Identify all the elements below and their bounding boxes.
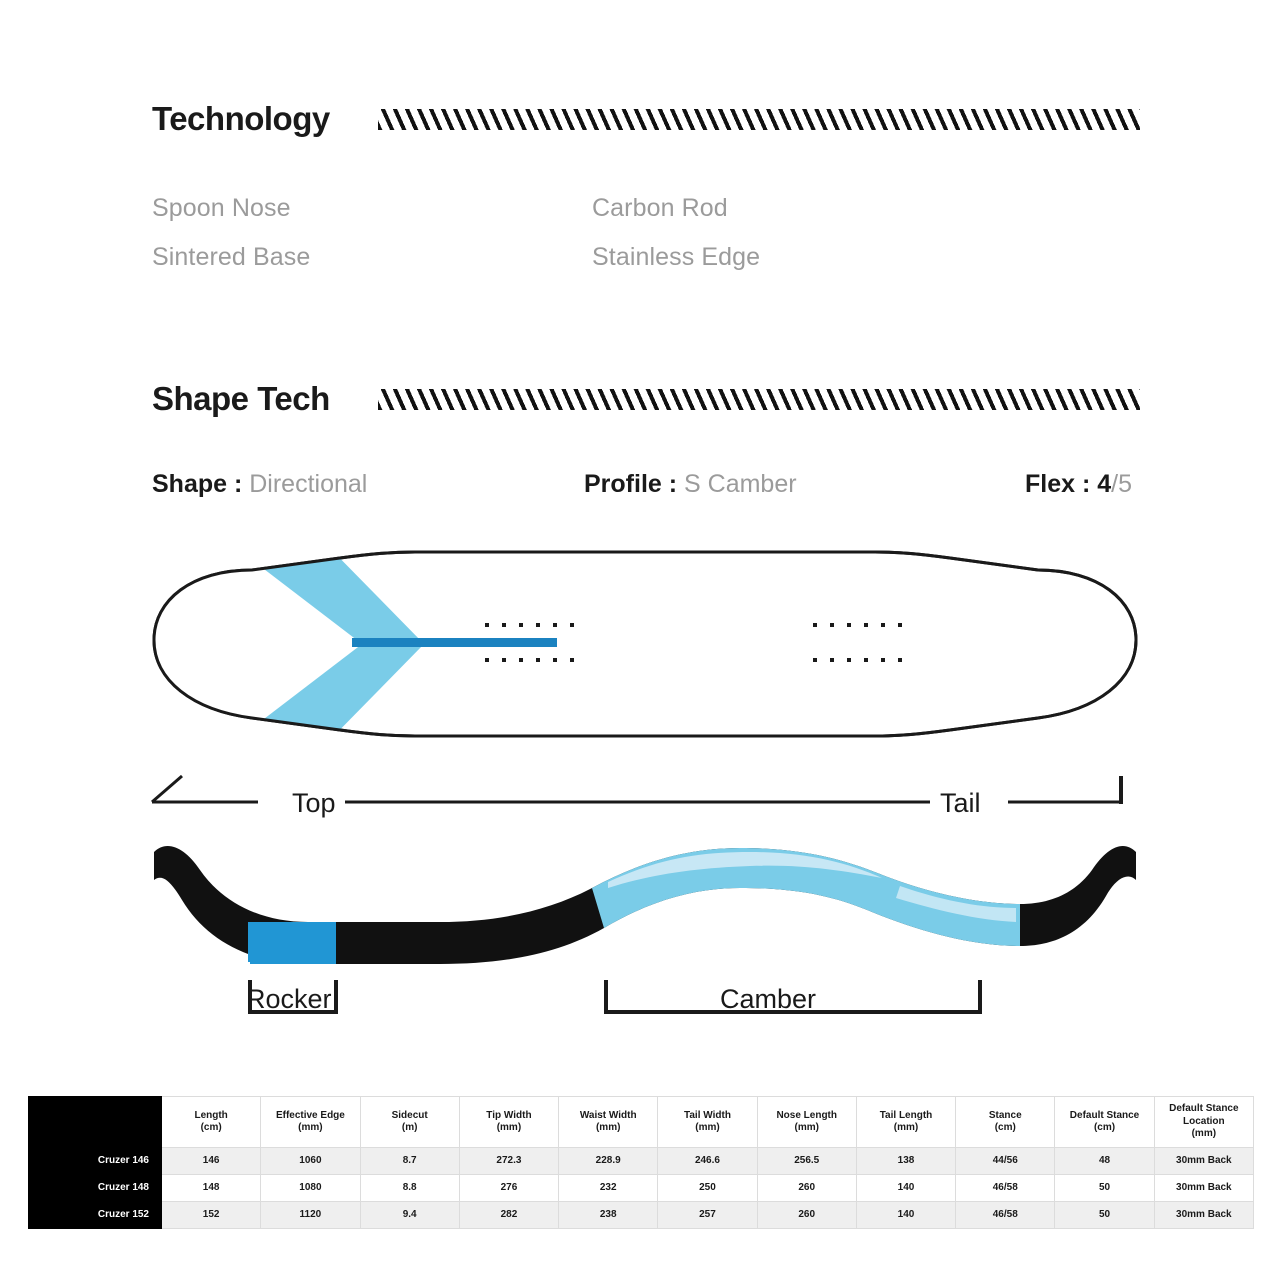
- technology-item-stainless-edge: Stainless Edge: [592, 243, 760, 272]
- technology-list: Spoon Nose Carbon Rod Sintered Base Stai…: [0, 184, 1280, 282]
- technology-row: Spoon Nose Carbon Rod: [152, 184, 1280, 233]
- axis-label-top: Top: [292, 788, 336, 818]
- row-model-cruzer-146: Cruzer 146: [29, 1148, 162, 1175]
- cell: 46/58: [956, 1202, 1055, 1229]
- spec-shape-key: Shape :: [152, 470, 242, 498]
- cell: 48: [1055, 1148, 1154, 1175]
- cell: 44/56: [956, 1148, 1055, 1175]
- spec-shape: Shape : Directional: [152, 470, 584, 499]
- spec-flex-key: Flex :: [1025, 470, 1090, 498]
- board-top-view: [140, 540, 1136, 748]
- col-default-stance-location: Default Stance Location (mm): [1154, 1097, 1253, 1148]
- spec-flex-value: 4: [1097, 470, 1111, 498]
- cell: 272.3: [459, 1148, 558, 1175]
- cell: 282: [459, 1202, 558, 1229]
- cell: 246.6: [658, 1148, 757, 1175]
- technology-header: Technology: [0, 100, 1280, 138]
- cell: 260: [757, 1175, 856, 1202]
- cell: 140: [856, 1175, 955, 1202]
- col-default-stance: Default Stance (cm): [1055, 1097, 1154, 1148]
- table-row: Cruzer 148 148 1080 8.8 276 232 250 260 …: [29, 1175, 1254, 1202]
- cell: 9.4: [360, 1202, 459, 1229]
- camber-label: Camber: [720, 984, 816, 1015]
- col-tip-width: Tip Width (mm): [459, 1097, 558, 1148]
- spec-flex-scale: /5: [1111, 470, 1132, 498]
- shape-tech-header: Shape Tech: [0, 380, 1280, 418]
- board-diagram: Top Tail: [140, 540, 1150, 1020]
- cell: 1080: [261, 1175, 360, 1202]
- spec-shape-value: Directional: [249, 470, 367, 498]
- spec-table-body: Cruzer 146 146 1060 8.7 272.3 228.9 246.…: [29, 1148, 1254, 1229]
- cell: 260: [757, 1202, 856, 1229]
- axis-arrowhead-icon: [152, 776, 182, 802]
- spec-table-corner: [29, 1097, 162, 1148]
- technology-item-carbon-rod: Carbon Rod: [592, 194, 728, 223]
- cell: 148: [162, 1175, 261, 1202]
- spec-table-container: Length (cm) Effective Edge (mm) Sidecut …: [28, 1096, 1254, 1229]
- cell: 146: [162, 1148, 261, 1175]
- technology-item-spoon-nose: Spoon Nose: [152, 194, 592, 223]
- board-diagram-svg: Top Tail: [140, 540, 1150, 1020]
- cell: 30mm Back: [1154, 1148, 1253, 1175]
- col-tail-length: Tail Length (mm): [856, 1097, 955, 1148]
- cell: 50: [1055, 1175, 1154, 1202]
- shape-tech-section: Shape Tech Shape : Directional Profile :…: [0, 380, 1280, 499]
- spec-table-header-row: Length (cm) Effective Edge (mm) Sidecut …: [29, 1097, 1254, 1148]
- axis-label-tail: Tail: [940, 788, 981, 818]
- col-sidecut: Sidecut (m): [360, 1097, 459, 1148]
- col-nose-length: Nose Length (mm): [757, 1097, 856, 1148]
- cell: 276: [459, 1175, 558, 1202]
- cell: 257: [658, 1202, 757, 1229]
- technology-section: Technology Spoon Nose Carbon Rod Sintere…: [0, 100, 1280, 282]
- rocker-label: Rocker: [246, 984, 332, 1015]
- spec-table-head: Length (cm) Effective Edge (mm) Sidecut …: [29, 1097, 1254, 1148]
- table-row: Cruzer 146 146 1060 8.7 272.3 228.9 246.…: [29, 1148, 1254, 1175]
- table-row: Cruzer 152 152 1120 9.4 282 238 257 260 …: [29, 1202, 1254, 1229]
- diagonal-hatch-divider-icon: [378, 109, 1140, 130]
- cell: 138: [856, 1148, 955, 1175]
- cell: 8.8: [360, 1175, 459, 1202]
- cell: 30mm Back: [1154, 1202, 1253, 1229]
- cell: 232: [559, 1175, 658, 1202]
- cell: 238: [559, 1202, 658, 1229]
- col-waist-width: Waist Width (mm): [559, 1097, 658, 1148]
- technology-title: Technology: [152, 100, 330, 138]
- col-tail-width: Tail Width (mm): [658, 1097, 757, 1148]
- col-length: Length (cm): [162, 1097, 261, 1148]
- col-effective-edge: Effective Edge (mm): [261, 1097, 360, 1148]
- cell: 140: [856, 1202, 955, 1229]
- spec-profile-key: Profile :: [584, 470, 677, 498]
- profile-rocker-blue: [250, 922, 336, 964]
- length-axis: Top Tail: [152, 776, 1122, 818]
- cell: 228.9: [559, 1148, 658, 1175]
- row-model-cruzer-148: Cruzer 148: [29, 1175, 162, 1202]
- spec-table: Length (cm) Effective Edge (mm) Sidecut …: [28, 1096, 1254, 1229]
- technology-item-sintered-base: Sintered Base: [152, 243, 592, 272]
- spec-profile: Profile : S Camber: [584, 470, 1025, 499]
- cell: 46/58: [956, 1175, 1055, 1202]
- col-stance: Stance (cm): [956, 1097, 1055, 1148]
- cell: 250: [658, 1175, 757, 1202]
- shape-spec-row: Shape : Directional Profile : S Camber F…: [0, 470, 1280, 499]
- board-stripe: [352, 638, 557, 647]
- cell: 152: [162, 1202, 261, 1229]
- shape-tech-title: Shape Tech: [152, 380, 330, 418]
- cell: 8.7: [360, 1148, 459, 1175]
- cell: 1120: [261, 1202, 360, 1229]
- cell: 50: [1055, 1202, 1154, 1229]
- cell: 256.5: [757, 1148, 856, 1175]
- spec-flex: Flex : 4/5: [1025, 470, 1132, 499]
- cell: 1060: [261, 1148, 360, 1175]
- spec-profile-value: S Camber: [684, 470, 797, 498]
- row-model-cruzer-152: Cruzer 152: [29, 1202, 162, 1229]
- diagonal-hatch-divider-icon: [378, 389, 1140, 410]
- technology-row: Sintered Base Stainless Edge: [152, 233, 1280, 282]
- cell: 30mm Back: [1154, 1175, 1253, 1202]
